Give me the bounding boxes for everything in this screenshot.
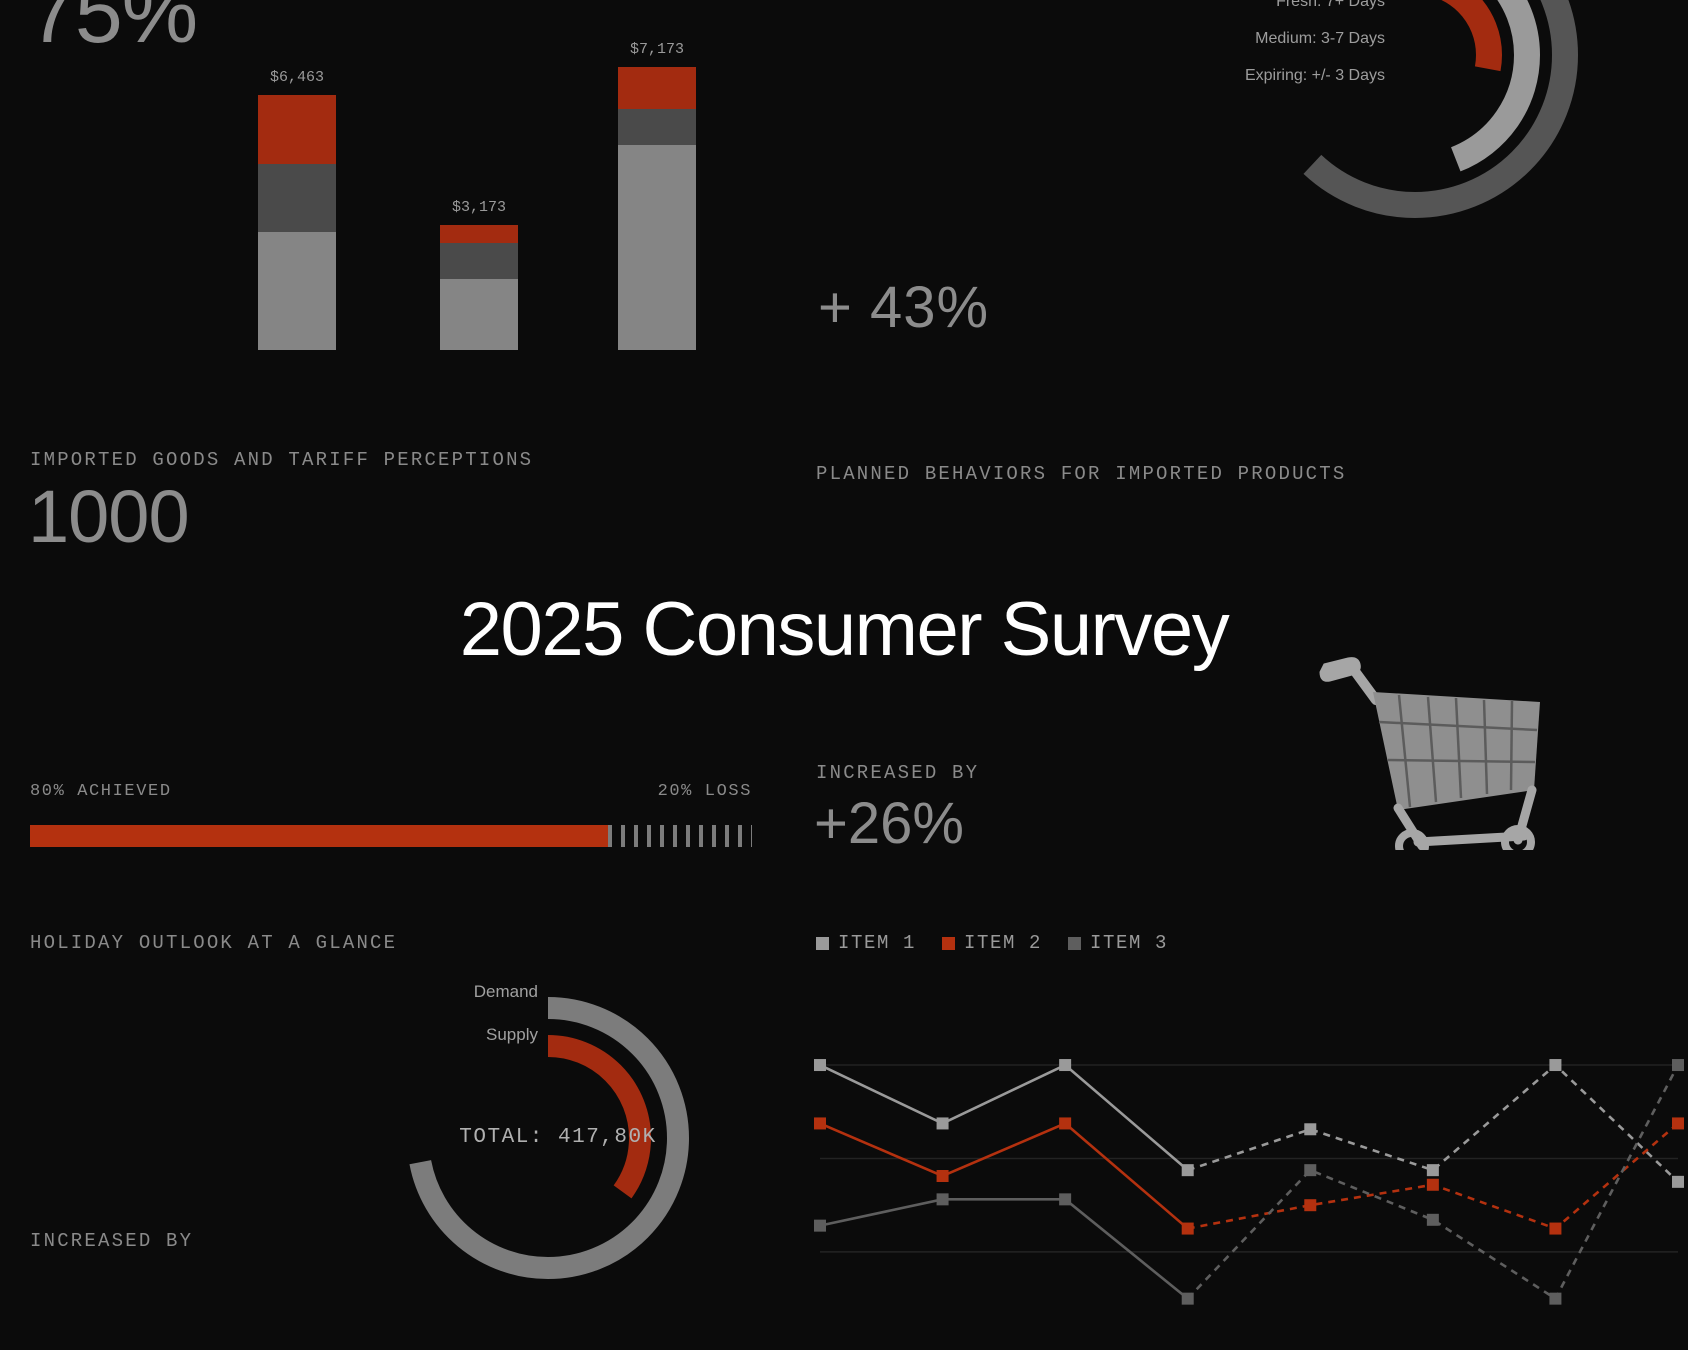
line-data-point[interactable]	[937, 1117, 949, 1129]
bar-segment	[440, 279, 518, 350]
infographic-canvas: 75% $6,463$3,173$7,173 + 43% Fresh: 7+ D…	[0, 0, 1688, 1350]
progress-bar-remainder	[608, 825, 752, 847]
line-data-point[interactable]	[1427, 1214, 1439, 1226]
progress-achieved-label: 80% ACHIEVED	[30, 782, 172, 801]
line-series-path	[820, 1199, 1188, 1298]
bar-segment	[258, 164, 336, 231]
progress-bar[interactable]	[30, 825, 752, 847]
line-data-point[interactable]	[1182, 1223, 1194, 1235]
freshness-radial-gauge: Fresh: 7+ Days Medium: 3-7 Days Expiring…	[1245, 0, 1665, 280]
line-data-point[interactable]	[1304, 1164, 1316, 1176]
legend-label-item-2: ITEM 2	[964, 932, 1042, 954]
legend-entry-item-3[interactable]: ITEM 3	[1068, 932, 1168, 954]
line-data-point[interactable]	[1427, 1164, 1439, 1176]
bar-segment	[618, 145, 696, 350]
line-data-point[interactable]	[1182, 1293, 1194, 1305]
line-data-point[interactable]	[814, 1117, 826, 1129]
legend-swatch-item-1	[816, 937, 829, 950]
line-data-point[interactable]	[1059, 1193, 1071, 1205]
gauge-legend-fresh: Fresh: 7+ Days	[1125, 0, 1385, 11]
line-chart-svg	[800, 1010, 1688, 1350]
bar-segment	[258, 232, 336, 350]
gauge-legend-medium: Medium: 3-7 Days	[1125, 30, 1385, 48]
progress-loss-label: 20% LOSS	[658, 782, 752, 801]
bar-segment	[440, 225, 518, 244]
progress-section: 80% ACHIEVED 20% LOSS	[30, 782, 752, 847]
legend-entry-item-2[interactable]: ITEM 2	[942, 932, 1042, 954]
line-data-point[interactable]	[1182, 1164, 1194, 1176]
line-data-point[interactable]	[1549, 1293, 1561, 1305]
legend-swatch-item-3	[1068, 937, 1081, 950]
bar-value-label: $7,173	[577, 41, 737, 58]
bar-segment	[258, 95, 336, 165]
donut-legend-demand: Demand	[328, 982, 538, 1002]
multi-series-line-chart	[800, 1010, 1688, 1350]
bar-segment	[618, 109, 696, 145]
bar-segment	[618, 67, 696, 109]
line-data-point[interactable]	[1304, 1123, 1316, 1135]
stat-count-1000: 1000	[28, 480, 189, 554]
line-data-point[interactable]	[814, 1220, 826, 1232]
stat-increase-26: +26%	[814, 790, 964, 857]
gauge-legend-expiring: Expiring: +/- 3 Days	[1125, 67, 1385, 85]
ring-expiring	[1341, 0, 1489, 129]
shopping-cart-icon	[1318, 650, 1548, 855]
stat-top-left-percent: 75%	[28, 0, 197, 56]
label-increased-by: INCREASED BY	[816, 762, 979, 784]
bar-value-label: $3,173	[399, 199, 559, 216]
cart-svg	[1318, 650, 1548, 850]
donut-legend-supply: Supply	[328, 1025, 538, 1045]
line-data-point[interactable]	[1672, 1176, 1684, 1188]
stat-growth-43: + 43%	[818, 274, 989, 341]
line-data-point[interactable]	[1549, 1059, 1561, 1071]
stacked-bar-chart: $6,463$3,173$7,173	[250, 50, 730, 350]
label-planned-behaviors: PLANNED BEHAVIORS FOR IMPORTED PRODUCTS	[816, 463, 1346, 485]
label-holiday-outlook: HOLIDAY OUTLOOK AT A GLANCE	[30, 932, 397, 954]
progress-bar-fill	[30, 825, 608, 847]
legend-entry-item-1[interactable]: ITEM 1	[816, 932, 916, 954]
legend-swatch-item-2	[942, 937, 955, 950]
donut-total-label: TOTAL: 417,80K	[358, 1126, 758, 1149]
line-series-path	[820, 1065, 1188, 1170]
line-data-point[interactable]	[1427, 1179, 1439, 1191]
line-data-point[interactable]	[1549, 1223, 1561, 1235]
bar-column[interactable]: $3,173	[440, 225, 518, 350]
bar-segment	[440, 243, 518, 279]
line-chart-legend: ITEM 1 ITEM 2 ITEM 3	[816, 932, 1168, 954]
legend-label-item-1: ITEM 1	[838, 932, 916, 954]
bar-column[interactable]: $7,173	[618, 67, 696, 350]
supply-demand-donut: Demand Supply TOTAL: 417,80K	[398, 968, 718, 1298]
line-data-point[interactable]	[814, 1059, 826, 1071]
legend-label-item-3: ITEM 3	[1090, 932, 1168, 954]
line-data-point[interactable]	[1059, 1117, 1071, 1129]
line-data-point[interactable]	[937, 1170, 949, 1182]
label-imported-goods: IMPORTED GOODS AND TARIFF PERCEPTIONS	[30, 449, 533, 471]
line-data-point[interactable]	[1304, 1199, 1316, 1211]
progress-captions: 80% ACHIEVED 20% LOSS	[30, 782, 752, 801]
line-data-point[interactable]	[1672, 1059, 1684, 1071]
bar-column[interactable]: $6,463	[258, 95, 336, 350]
bar-value-label: $6,463	[217, 69, 377, 86]
line-data-point[interactable]	[937, 1193, 949, 1205]
line-data-point[interactable]	[1059, 1059, 1071, 1071]
line-data-point[interactable]	[1672, 1117, 1684, 1129]
label-increased-by-2: INCREASED BY	[30, 1230, 193, 1252]
